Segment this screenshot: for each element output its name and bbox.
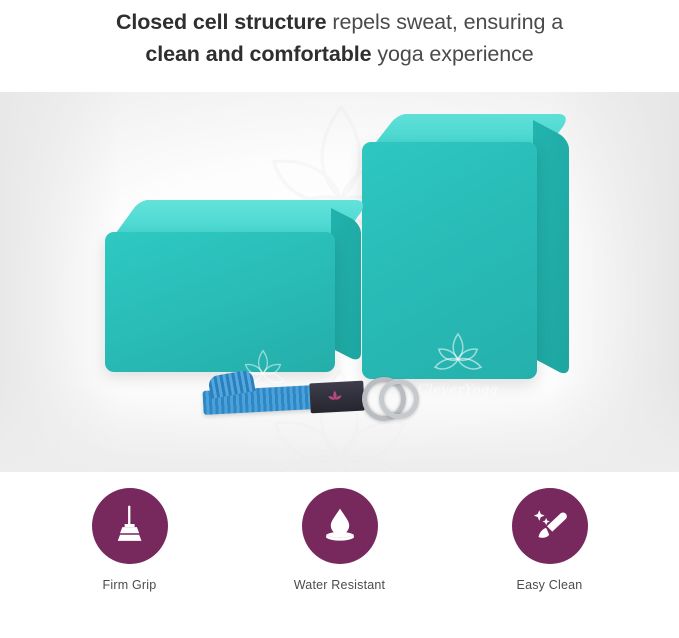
large-yoga-block xyxy=(352,114,567,384)
headline-line-2-rest: yoga experience xyxy=(371,42,533,66)
large-block-side-face xyxy=(533,120,569,377)
product-infographic: Closed cell structure repels sweat, ensu… xyxy=(0,0,679,638)
page-title: Closed cell structure repels sweat, ensu… xyxy=(0,6,679,70)
product-photo: CleverYoga CleverYoga xyxy=(0,92,679,472)
small-block-front-face xyxy=(105,232,335,372)
strap-tag-lotus-icon xyxy=(323,386,346,407)
large-block-front-face xyxy=(362,142,537,379)
easy-clean-badge xyxy=(512,488,588,564)
water-resistant-badge xyxy=(302,488,378,564)
yoga-strap xyxy=(203,367,418,427)
small-block-side-face xyxy=(331,208,361,363)
small-yoga-block xyxy=(95,200,350,385)
headline-line-2-bold: clean and comfortable xyxy=(145,42,371,66)
firm-grip-icon xyxy=(107,501,153,552)
easy-clean-icon xyxy=(527,501,573,552)
feature-water-resistant-label: Water Resistant xyxy=(280,578,400,592)
headline-line-1-rest: repels sweat, ensuring a xyxy=(327,10,564,34)
feature-list: Firm Grip Water Resistant xyxy=(0,488,679,592)
feature-firm-grip-label: Firm Grip xyxy=(70,578,190,592)
headline-line-1: Closed cell structure repels sweat, ensu… xyxy=(0,6,679,38)
firm-grip-badge xyxy=(92,488,168,564)
water-resistant-icon xyxy=(317,501,363,552)
feature-firm-grip: Firm Grip xyxy=(70,488,190,592)
feature-easy-clean: Easy Clean xyxy=(490,488,610,592)
feature-water-resistant: Water Resistant xyxy=(280,488,400,592)
headline-line-1-bold: Closed cell structure xyxy=(116,10,327,34)
feature-easy-clean-label: Easy Clean xyxy=(490,578,610,592)
headline-line-2: clean and comfortable yoga experience xyxy=(0,38,679,70)
